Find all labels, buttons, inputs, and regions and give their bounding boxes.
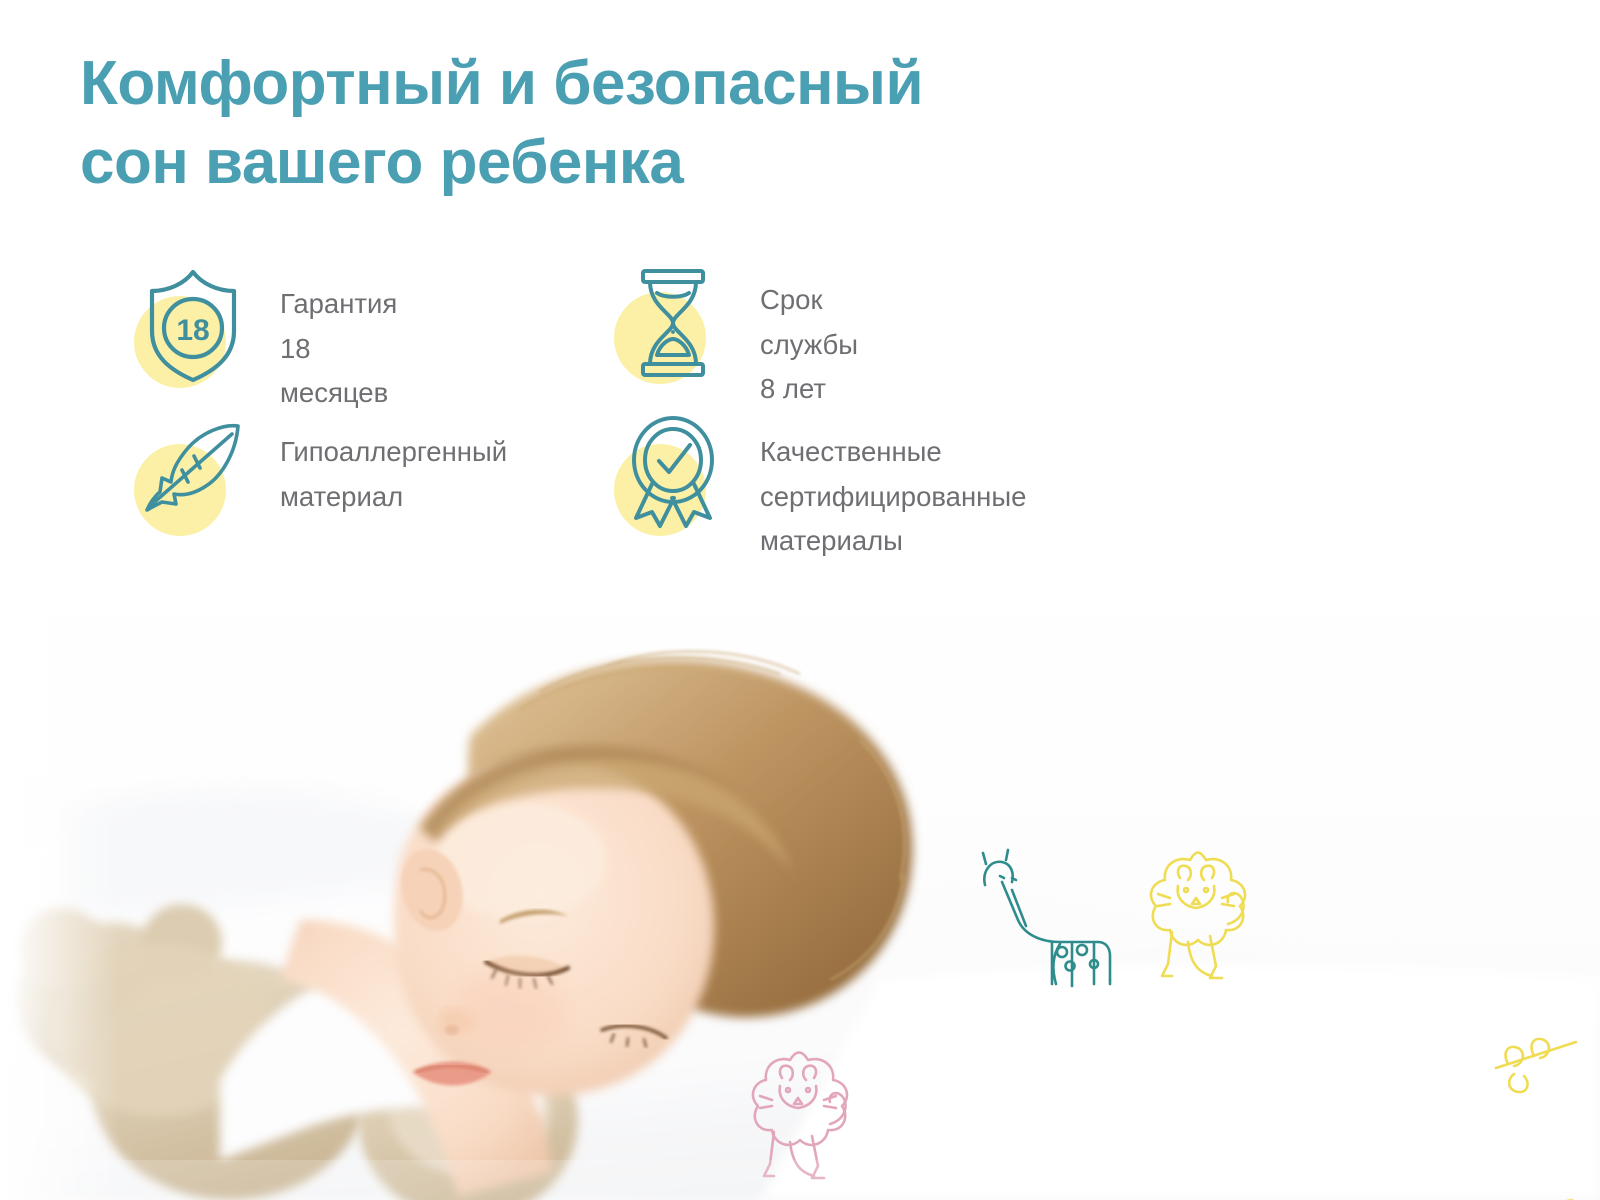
promo-page: Комфортный и безопасный сон вашего ребен… xyxy=(0,0,1600,1200)
feature-quality-label: Качественные сертифицированные материалы xyxy=(760,430,1026,564)
warranty-badge-number: 18 xyxy=(176,314,209,347)
feature-warranty-label: Гарантия 18 месяцев xyxy=(280,282,397,416)
hero-photo xyxy=(0,560,1600,1200)
shield-18-icon: 18 xyxy=(132,258,252,388)
award-check-icon xyxy=(612,406,732,536)
feather-icon xyxy=(132,406,252,536)
feature-lifetime-label: Срок службы 8 лет xyxy=(760,278,858,412)
hourglass-icon xyxy=(612,254,732,384)
feature-hypoallergenic-label: Гипоаллергенный материал xyxy=(280,430,507,519)
page-title: Комфортный и безопасный сон вашего ребен… xyxy=(80,44,923,203)
